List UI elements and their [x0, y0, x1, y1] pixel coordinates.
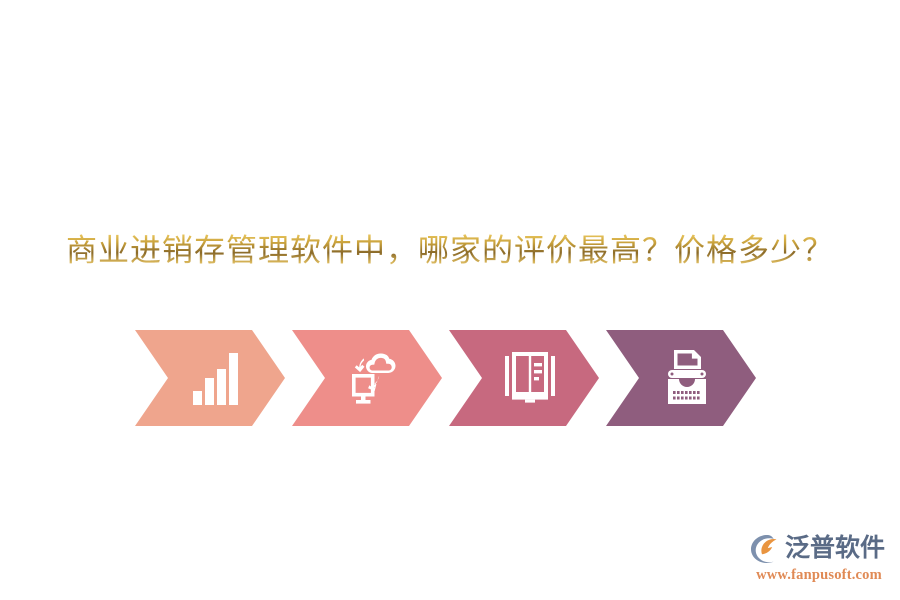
- chevron-step-4: [606, 330, 756, 426]
- chevron-step-1: [135, 330, 285, 426]
- typewriter-icon: [660, 347, 714, 409]
- chevron-step-3: [449, 330, 599, 426]
- open-book-icon: [503, 347, 557, 409]
- chevron-step-2: [292, 330, 442, 426]
- company-logo: 泛普软件 www.fanpusoft.com: [750, 532, 888, 586]
- page-title: 商业进销存管理软件中，哪家的评价最高？价格多少？: [0, 228, 900, 274]
- logo-website-url: www.fanpusoft.com: [750, 566, 888, 584]
- banner-canvas: 商业进销存管理软件中，哪家的评价最高？价格多少？: [0, 0, 900, 600]
- chevron-row: [135, 330, 765, 426]
- logo-row: 泛普软件: [750, 532, 888, 566]
- fanpu-logo-mark-icon: [750, 534, 782, 564]
- bar-chart-icon: [189, 347, 243, 409]
- logo-company-name: 泛普软件: [782, 534, 885, 564]
- cloud-sync-monitor-icon: [346, 347, 400, 409]
